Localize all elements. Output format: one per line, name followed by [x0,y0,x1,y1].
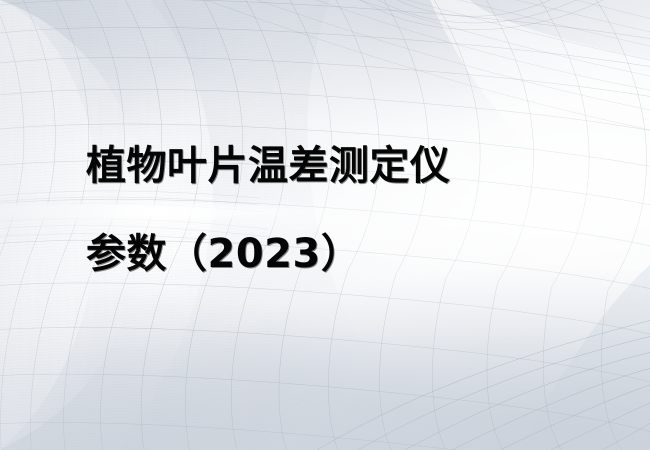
title-slide: 植物叶片温差测定仪 参数（2023） [0,0,650,450]
title-line-1: 植物叶片温差测定仪 [86,122,606,210]
slide-title: 植物叶片温差测定仪 参数（2023） [86,122,606,298]
title-line-2: 参数（2023） [86,210,606,298]
